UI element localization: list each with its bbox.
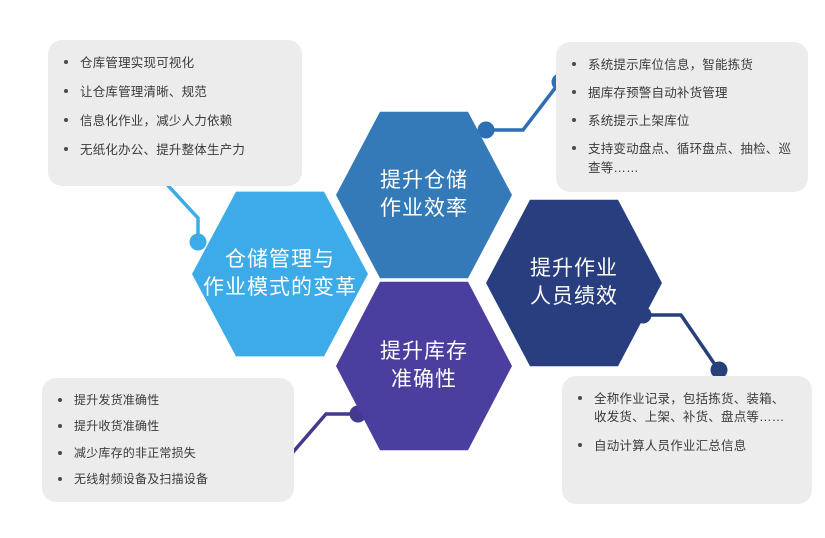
card-bottom-right: 全称作业记录，包括拣货、装箱、收发货、上架、补货、盘点等…… 自动计算人员作业汇… xyxy=(562,376,812,504)
hexagon-right-line-2: 人员绩效 xyxy=(530,283,618,311)
connector-dot-top-left-hex xyxy=(190,234,207,251)
hexagon-left-line-2: 作业模式的变革 xyxy=(203,274,357,302)
list-item: 仓库管理实现可视化 xyxy=(62,54,286,72)
connector-top-right xyxy=(478,74,569,139)
hexagon-top-line-1: 提升仓储 xyxy=(380,167,468,195)
list-item: 系统提示上架库位 xyxy=(570,112,792,130)
card-top-left-list: 仓库管理实现可视化 让仓库管理清晰、规范 信息化作业，减少人力依赖 无纸化办公、… xyxy=(62,54,286,160)
hexagon-bottom-line-1: 提升库存 xyxy=(380,338,468,366)
list-item: 支持变动盘点、循环盘点、抽检、巡查等…… xyxy=(570,140,792,176)
list-item: 据库存预警自动补货管理 xyxy=(570,84,792,102)
card-bottom-left-list: 提升发货准确性 提升收货准确性 减少库存的非正常损失 无线射频设备及扫描设备 xyxy=(56,392,278,489)
card-bottom-left: 提升发货准确性 提升收货准确性 减少库存的非正常损失 无线射频设备及扫描设备 xyxy=(42,378,294,502)
list-item: 提升发货准确性 xyxy=(56,392,278,409)
hexagon-staff-performance[interactable]: 提升作业 人员绩效 xyxy=(486,198,662,368)
hexagon-inventory-accuracy[interactable]: 提升库存 准确性 xyxy=(336,280,512,452)
list-item: 无线射频设备及扫描设备 xyxy=(56,471,278,488)
hexagon-right-line-1: 提升作业 xyxy=(530,255,618,283)
list-item: 全称作业记录，包括拣货、装箱、收发货、上架、补货、盘点等…… xyxy=(576,390,796,426)
list-item: 信息化作业，减少人力依赖 xyxy=(62,112,286,130)
hexagon-storage-efficiency[interactable]: 提升仓储 作业效率 xyxy=(336,110,512,280)
list-item: 减少库存的非正常损失 xyxy=(56,445,278,462)
list-item: 让仓库管理清晰、规范 xyxy=(62,83,286,101)
hexagon-top-line-2: 作业效率 xyxy=(380,195,468,223)
diagram-canvas: 仓库管理实现可视化 让仓库管理清晰、规范 信息化作业，减少人力依赖 无纸化办公、… xyxy=(0,0,825,538)
connector-bottom-right xyxy=(635,307,728,379)
card-top-left: 仓库管理实现可视化 让仓库管理清晰、规范 信息化作业，减少人力依赖 无纸化办公、… xyxy=(48,40,302,186)
card-top-right-list: 系统提示库位信息，智能拣货 据库存预警自动补货管理 系统提示上架库位 支持变动盘… xyxy=(570,56,792,177)
hexagon-warehouse-transformation[interactable]: 仓储管理与 作业模式的变革 xyxy=(192,190,368,358)
list-item: 提升收货准确性 xyxy=(56,418,278,435)
card-top-right: 系统提示库位信息，智能拣货 据库存预警自动补货管理 系统提示上架库位 支持变动盘… xyxy=(556,42,808,192)
list-item: 无纸化办公、提升整体生产力 xyxy=(62,141,286,159)
hexagon-bottom-line-2: 准确性 xyxy=(380,366,468,394)
list-item: 自动计算人员作业汇总信息 xyxy=(576,437,796,455)
card-bottom-right-list: 全称作业记录，包括拣货、装箱、收发货、上架、补货、盘点等…… 自动计算人员作业汇… xyxy=(576,390,796,455)
hexagon-left-line-1: 仓储管理与 xyxy=(203,246,357,274)
list-item: 系统提示库位信息，智能拣货 xyxy=(570,56,792,74)
